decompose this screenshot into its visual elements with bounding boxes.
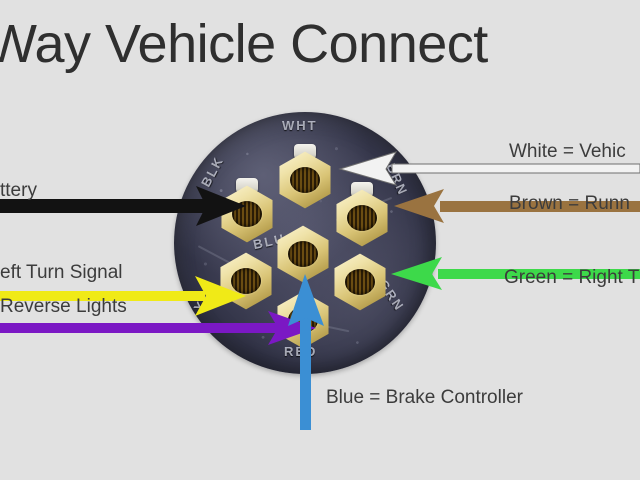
terminal-bore [290, 167, 320, 193]
label-purple: Reverse Lights [0, 297, 127, 316]
terminal-purple[interactable] [274, 291, 332, 349]
page-title: Way Vehicle Connect [0, 16, 640, 73]
terminal-yellow[interactable] [217, 252, 275, 310]
marking-wht: WHT [282, 118, 318, 133]
terminal-bore [288, 241, 318, 267]
label-green: Green = Right T [504, 268, 639, 287]
label-yellow: eft Turn Signal [0, 263, 123, 282]
diagram-canvas: Way Vehicle Connect WHT BLK BRN BLU GRN … [0, 0, 640, 480]
terminal-green[interactable] [331, 253, 389, 311]
label-white: White = Vehic [509, 142, 626, 161]
terminal-blue[interactable] [274, 225, 332, 283]
terminal-bore [288, 307, 318, 333]
label-brown: Brown = Runn [509, 194, 630, 213]
terminal-bore [232, 201, 262, 227]
terminal-bore [345, 269, 375, 295]
connector-body: WHT BLK BRN BLU GRN YEL RED [174, 112, 436, 374]
terminal-brown[interactable] [333, 189, 391, 247]
label-blue: Blue = Brake Controller [326, 388, 523, 407]
terminal-bore [347, 205, 377, 231]
label-black: ttery [0, 181, 37, 200]
terminal-white[interactable] [276, 151, 334, 209]
terminal-bore [231, 268, 261, 294]
terminal-black[interactable] [218, 185, 276, 243]
